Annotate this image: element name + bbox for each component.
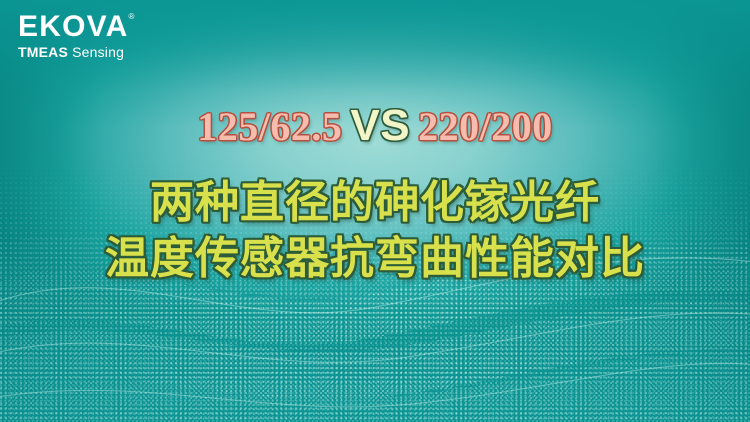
brand-tagline-bold: TMEAS: [18, 44, 68, 60]
brand-logo: EKOVA® TMEAS Sensing: [18, 12, 168, 60]
versus-label: VS: [350, 101, 410, 150]
registered-trademark-icon: ®: [128, 13, 135, 21]
brand-name-text: EKOVA: [18, 10, 128, 43]
title-card-slide: EKOVA® TMEAS Sensing 125/62.5VS220/200 两…: [0, 0, 750, 422]
title-line-1: 两种直径的砷化镓光纤: [0, 176, 750, 230]
spec-comparison-line: 125/62.5VS220/200: [0, 104, 750, 148]
brand-tagline: TMEAS Sensing: [18, 45, 168, 60]
spec-left-value: 125/62.5: [197, 104, 342, 149]
headline-block: 125/62.5VS220/200 两种直径的砷化镓光纤 温度传感器抗弯曲性能对…: [0, 104, 750, 285]
title-line-2: 温度传感器抗弯曲性能对比: [0, 232, 750, 286]
brand-tagline-light-text: Sensing: [72, 44, 124, 60]
brand-wordmark: EKOVA®: [18, 12, 168, 42]
spec-right-value: 220/200: [418, 104, 553, 149]
